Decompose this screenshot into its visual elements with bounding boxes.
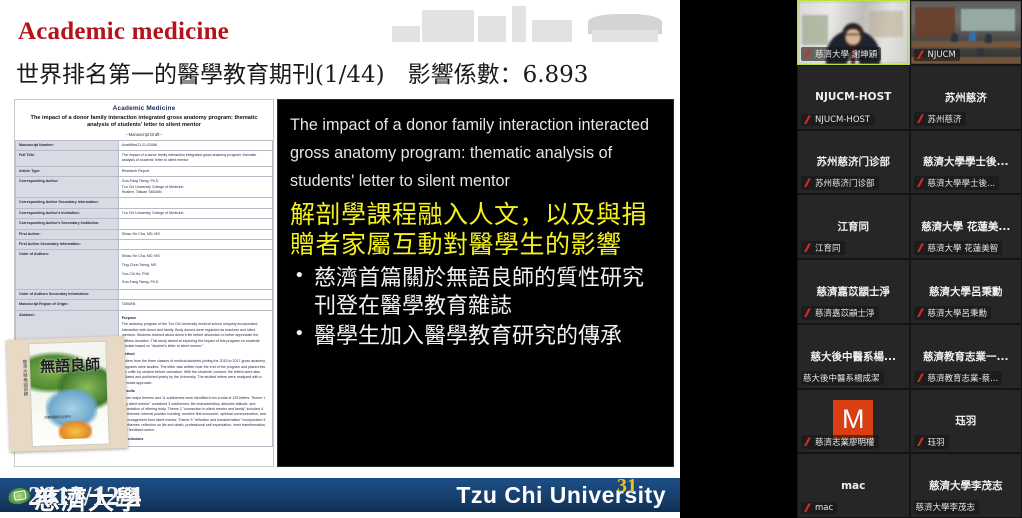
participant-tile[interactable]: 慈濟大學學士後... 慈濟大學學士後... — [910, 130, 1022, 195]
participant-name-tag: NJUCM — [914, 49, 960, 61]
participant-name-tag: 苏州慈济门诊部 — [801, 176, 879, 190]
abstract-heading: Purpose — [122, 316, 269, 321]
row-label: First Author: — [16, 229, 119, 239]
row-label: Full Title: — [16, 150, 119, 166]
book-cover-title: 無語良師 — [40, 358, 101, 376]
presentation-slide: Academic medicine 世界排名第一的醫學教育期刊(1/44) 影響… — [0, 0, 680, 518]
table-row: Order of Authors:Shiao-Yin Cha, MD, MS T… — [16, 250, 273, 290]
row-value — [118, 198, 272, 208]
participant-display-name: 慈濟教育志業一... — [919, 349, 1012, 364]
row-label: Corresponding Author Secondary Informati… — [16, 198, 119, 208]
participant-display-name: 慈濟大學呂秉勳 — [925, 284, 1007, 299]
row-value — [118, 239, 272, 249]
participant-display-name: mac — [837, 480, 869, 492]
draft-marker: --Manuscript Draft-- — [21, 132, 267, 137]
participant-tile[interactable]: 苏州慈济门诊部 苏州慈济门诊部 — [797, 130, 910, 195]
table-row: Full Title:The impact of a donor family … — [16, 150, 273, 166]
gallery-row: NJUCM-HOST NJUCM-HOST 苏州慈济 苏州慈济 — [797, 65, 1022, 130]
row-label: Manuscript Number: — [16, 140, 119, 150]
participant-name-tag: mac — [801, 502, 837, 514]
zoom-logo-icon — [916, 50, 925, 60]
table-row: Order of Authors Secondary Information: — [16, 289, 273, 299]
zoom-logo-icon — [916, 114, 925, 124]
table-row: Corresponding Author's Institution:Tzu C… — [16, 208, 273, 218]
zoom-logo-icon — [803, 115, 812, 125]
list-item: 慈濟首篇關於無語良師的質性研究刊登在醫學教育雜誌 — [290, 265, 659, 321]
zoom-logo-icon — [803, 503, 812, 513]
participant-display-name: 苏州慈济门诊部 — [813, 154, 895, 169]
participant-tile-avatar[interactable]: M 慈濟志業廖明權 — [797, 389, 910, 454]
participant-display-name: 慈大後中醫系楊... — [807, 349, 900, 364]
participant-name-tag: 慈濟大學李茂志 — [914, 500, 980, 514]
row-label: Order of Authors: — [16, 250, 119, 290]
table-row: First Author Secondary Information: — [16, 239, 273, 249]
participant-name-tag: 江育同 — [801, 241, 845, 255]
row-label: Corresponding Author's Secondary Institu… — [16, 219, 119, 229]
participant-name-label: 苏州慈济门诊部 — [815, 177, 875, 189]
gallery-row: 慈大後中醫系楊... 慈大後中醫系楊成潔 慈濟教育志業一... 慈濟教育志業-蔡… — [797, 324, 1022, 389]
row-value: Shiao-Yin Cha, MD, MS — [118, 229, 272, 239]
participant-name-tag: 慈大後中醫系楊成潔 — [801, 371, 884, 385]
list-item: 醫學生加入醫學教育研究的傳承 — [290, 323, 659, 351]
slide-footer-banner: 慈濟大學 2017/12/4 Tzu Chi University 31 — [0, 478, 680, 512]
participant-name-tag: 珏羽 — [914, 435, 949, 449]
participant-tile[interactable]: 慈濟大學李茂志 慈濟大學李茂志 — [910, 453, 1022, 518]
row-value: TAIWAN — [118, 300, 272, 310]
participant-display-name: 江育同 — [834, 219, 874, 234]
slide-page-number: 31 — [617, 475, 637, 498]
banner-date: 2017/12/4 — [28, 481, 142, 512]
abstract-heading: Conclusions — [122, 437, 269, 442]
gallery-row: 慈濟大學 謝坤穎 NJUCM — [797, 0, 1022, 65]
participant-name-label: NJUCM — [928, 50, 956, 60]
participant-tile[interactable]: mac mac — [797, 453, 910, 518]
screen-root: Academic medicine 世界排名第一的醫學教育期刊(1/44) 影響… — [0, 0, 1022, 518]
participant-display-name: NJUCM-HOST — [811, 91, 895, 103]
zoom-logo-icon — [916, 373, 925, 383]
gallery-row: 江育同 江育同 慈濟大學 花蓮美... 慈濟大學 花蓮美智 — [797, 194, 1022, 259]
avatar: M — [833, 400, 873, 440]
abstract-body: Letters from the three classes of medica… — [122, 359, 269, 386]
participant-name-label: 慈濟教育志業-蔡... — [928, 372, 999, 384]
document-title: The impact of a donor family interaction… — [21, 115, 267, 130]
table-row: Corresponding Author:Guo-Fang Tseng, Ph.… — [16, 177, 273, 198]
row-label: Order of Authors Secondary Information: — [16, 289, 119, 299]
table-row: Manuscript Number:AcadMed-D-21-02066 — [16, 140, 273, 150]
participant-name-tag: 慈濟志業廖明權 — [801, 435, 879, 449]
participant-name-tag: 慈濟大學 花蓮美智 — [914, 241, 1003, 255]
participant-tile[interactable]: 慈濟大學呂秉勳 慈濟大學呂秉勳 — [910, 259, 1022, 324]
participant-tile[interactable]: 慈大後中醫系楊... 慈大後中醫系楊成潔 — [797, 324, 910, 389]
slide-subtitle: 世界排名第一的醫學教育期刊(1/44) 影響係數：6.893 — [16, 55, 588, 89]
participant-tile[interactable]: NJUCM-HOST NJUCM-HOST — [797, 65, 910, 130]
row-label: Corresponding Author: — [16, 177, 119, 198]
gallery-row: M 慈濟志業廖明權 珏羽 珏羽 — [797, 389, 1022, 454]
gallery-row: mac mac 慈濟大學李茂志 慈濟大學李茂志 — [797, 453, 1022, 518]
zoom-logo-icon — [803, 49, 812, 59]
panel-bullet-list: 慈濟首篇關於無語良師的質性研究刊登在醫學教育雜誌 醫學生加入醫學教育研究的傳承 — [290, 265, 659, 351]
participant-name-label: mac — [815, 503, 833, 513]
row-value: The impact of a donor family interaction… — [118, 150, 272, 166]
zoom-logo-icon — [916, 243, 925, 253]
participant-name-tag: NJUCM-HOST — [801, 114, 874, 126]
book-spine-text: 慈濟大學無語良師 — [11, 359, 30, 438]
participant-display-name: 慈濟大學學士後... — [919, 154, 1012, 169]
participant-tile[interactable]: 苏州慈济 苏州慈济 — [910, 65, 1022, 130]
letterbox-gutter — [680, 0, 797, 518]
table-row: Corresponding Author Secondary Informati… — [16, 198, 273, 208]
panel-chinese-title: 解剖學課程融入人文，以及與捐贈者家屬互動對醫學生的影響 — [290, 200, 659, 262]
row-label: Manuscript Region of Origin: — [16, 300, 119, 310]
participant-tile[interactable]: 江育同 江育同 — [797, 194, 910, 259]
abstract-heading: Method — [122, 352, 269, 357]
participant-name-label: 慈濟大學學士後... — [928, 177, 996, 189]
participant-name-label: 苏州慈济 — [928, 113, 962, 125]
participant-name-tag: 苏州慈济 — [914, 112, 966, 126]
participant-name-tag: 慈濟教育志業-蔡... — [914, 371, 1003, 385]
document-header: Academic Medicine The impact of a donor … — [15, 100, 273, 140]
journal-name: Academic Medicine — [21, 105, 267, 112]
campus-photo-decoration — [392, 4, 672, 46]
shared-screen-slide: Academic medicine 世界排名第一的醫學教育期刊(1/44) 影響… — [0, 0, 680, 518]
participant-name-label: 慈濟大學李茂志 — [916, 501, 976, 513]
book-cover-photo: 慈濟大學無語良師 無語良師 大體捐贈紀念特刊 — [0, 330, 132, 454]
participant-name-label: 慈濟大學呂秉勳 — [928, 307, 988, 319]
slide-title: Academic medicine — [18, 18, 229, 46]
row-label: Article Type: — [16, 166, 119, 176]
abstract-body: The anatomy program of the Tzu Chi Unive… — [122, 322, 269, 349]
slide-black-panel: The impact of a donor family interaction… — [277, 99, 674, 467]
table-row: Article Type:Research Report — [16, 166, 273, 176]
row-value: Guo-Fang Tseng, Ph.D Tzu Chi University … — [118, 177, 272, 198]
table-row: Corresponding Author's Secondary Institu… — [16, 219, 273, 229]
participant-tile-active-speaker[interactable]: 慈濟大學 謝坤穎 — [797, 0, 910, 65]
participant-tile[interactable]: 珏羽 珏羽 — [910, 389, 1022, 454]
row-value — [118, 289, 272, 299]
participant-name-label: NJUCM-HOST — [815, 115, 870, 125]
abstract-content: Purpose The anatomy program of the Tzu C… — [118, 310, 272, 446]
participant-display-name: 慈濟大學李茂志 — [925, 478, 1007, 493]
zoom-logo-icon — [803, 178, 812, 188]
participant-name-label: 江育同 — [815, 242, 841, 254]
participant-name-label: 珏羽 — [928, 436, 945, 448]
row-value: AcadMed-D-21-02066 — [118, 140, 272, 150]
banner-bottom-strip — [0, 512, 680, 518]
participant-name-label: 慈濟志業廖明權 — [815, 436, 875, 448]
zoom-logo-icon — [916, 437, 925, 447]
participant-display-name: 慈濟大學 花蓮美... — [917, 219, 1014, 234]
participant-name-label: 慈濟嘉苡顓士淨 — [815, 307, 875, 319]
participant-name-tag: 慈濟大學 謝坤穎 — [801, 47, 881, 61]
cover-art-light — [58, 420, 93, 439]
participant-name-label: 慈濟大學 謝坤穎 — [815, 48, 877, 60]
book-cover-subtitle: 大體捐贈紀念特刊 — [44, 414, 71, 420]
row-label: Corresponding Author's Institution: — [16, 208, 119, 218]
participant-display-name: 珏羽 — [951, 413, 980, 428]
book-cover: 無語良師 大體捐贈紀念特刊 — [28, 341, 110, 448]
table-row: Manuscript Region of Origin:TAIWAN — [16, 300, 273, 310]
gallery-row: 慈濟嘉苡顓士淨 慈濟嘉苡顓士淨 慈濟大學呂秉勳 慈濟大學呂秉勳 — [797, 259, 1022, 324]
table-row: First Author:Shiao-Yin Cha, MD, MS — [16, 229, 273, 239]
zoom-logo-icon — [916, 178, 925, 188]
participant-name-tag: 慈濟大學學士後... — [914, 176, 1000, 190]
panel-english-title: The impact of a donor family interaction… — [290, 112, 659, 196]
participant-name-label: 慈大後中醫系楊成潔 — [803, 372, 880, 384]
row-value: Research Report — [118, 166, 272, 176]
participant-display-name: 苏州慈济 — [941, 90, 991, 105]
participant-name-label: 慈濟大學 花蓮美智 — [928, 242, 999, 254]
zoom-logo-icon — [803, 243, 812, 253]
zoom-logo-icon — [803, 437, 812, 447]
participant-name-tag: 慈濟嘉苡顓士淨 — [801, 306, 879, 320]
row-label: First Author Secondary Information: — [16, 239, 119, 249]
abstract-heading: Results — [122, 389, 269, 394]
row-value — [118, 219, 272, 229]
participant-tile[interactable]: 慈濟教育志業一... 慈濟教育志業-蔡... — [910, 324, 1022, 389]
participant-tile[interactable]: 慈濟嘉苡顓士淨 慈濟嘉苡顓士淨 — [797, 259, 910, 324]
participant-name-tag: 慈濟大學呂秉勳 — [914, 306, 992, 320]
participant-display-name: 慈濟嘉苡顓士淨 — [813, 284, 895, 299]
participant-gallery: 慈濟大學 謝坤穎 NJUCM — [797, 0, 1022, 518]
participant-tile-classroom[interactable]: NJUCM — [910, 0, 1022, 65]
abstract-body: Three major themes and 11 subthemes were… — [122, 396, 269, 434]
row-value: Tzu Chi University College of Medicine — [118, 208, 272, 218]
zoom-logo-icon — [803, 308, 812, 318]
participant-tile[interactable]: 慈濟大學 花蓮美... 慈濟大學 花蓮美智 — [910, 194, 1022, 259]
zoom-logo-icon — [916, 308, 925, 318]
gallery-row: 苏州慈济门诊部 苏州慈济门诊部 慈濟大學學士後... 慈濟大學學士後... — [797, 130, 1022, 195]
row-value: Shiao-Yin Cha, MD, MS Ting-Chun Tseng, M… — [118, 250, 272, 290]
